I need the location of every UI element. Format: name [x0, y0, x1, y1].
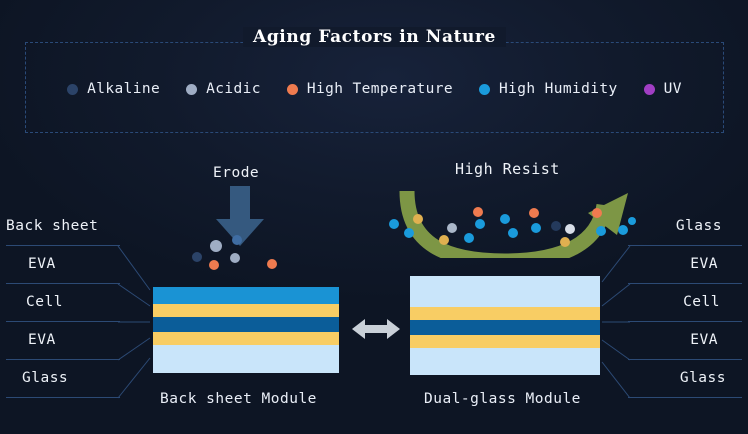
back-sheet-module-caption: Back sheet Module: [160, 391, 317, 407]
layer-eva-bottom: [410, 335, 600, 348]
aging-factor-particle: [475, 219, 485, 229]
layer-back-sheet: [153, 287, 339, 304]
legend-item-label: Alkaline: [87, 81, 160, 97]
aging-factor-particle: [618, 225, 628, 235]
label-text: EVA: [628, 250, 746, 278]
dot-icon: [186, 84, 197, 95]
dual-glass-module-stack: [410, 276, 600, 375]
legend-item-label: High Temperature: [307, 81, 453, 97]
layer-glass: [153, 345, 339, 373]
legend-title-text: Aging Factors in Nature: [243, 27, 506, 47]
label-rule: [628, 283, 742, 284]
aging-factor-particle: [267, 259, 277, 269]
high-resist-label: High Resist: [455, 160, 560, 178]
label-rule: [628, 245, 742, 246]
aging-factor-particle: [209, 260, 219, 270]
high-resist-arrow-icon: [385, 183, 645, 258]
aging-factor-particle: [560, 237, 570, 247]
aging-factor-particle: [232, 235, 242, 245]
diagram-canvas: Aging Factors in Nature Alkaline Acidic …: [0, 0, 748, 434]
label-text: EVA: [628, 326, 746, 354]
label-row-eva-top: EVA: [628, 250, 746, 288]
aging-factor-particle: [404, 228, 414, 238]
aging-factor-particle: [210, 240, 222, 252]
label-text: Glass: [628, 364, 746, 392]
aging-factor-particle: [389, 219, 399, 229]
legend-item-label: UV: [664, 81, 682, 97]
label-rule: [628, 359, 742, 360]
aging-factor-particle: [413, 214, 423, 224]
aging-factor-particle: [192, 252, 202, 262]
label-row-cell: Cell: [2, 288, 120, 326]
layer-glass-bottom: [410, 348, 600, 375]
label-text: Back sheet: [2, 212, 120, 240]
dot-icon: [644, 84, 655, 95]
label-row-cell: Cell: [628, 288, 746, 326]
label-row-eva-bottom: EVA: [628, 326, 746, 364]
label-rule: [628, 321, 742, 322]
legend-title: Aging Factors in Nature: [26, 27, 723, 47]
aging-factor-particle: [500, 214, 510, 224]
aging-factor-particle: [464, 233, 474, 243]
back-sheet-module-stack: [153, 287, 339, 373]
dot-icon: [67, 84, 78, 95]
label-text: EVA: [2, 326, 120, 354]
aging-factor-particle: [447, 223, 457, 233]
label-text: Cell: [628, 288, 746, 316]
legend-item-uv[interactable]: UV: [644, 81, 682, 97]
label-row-glass-bottom: Glass: [628, 364, 746, 402]
label-row-eva-bottom: EVA: [2, 326, 120, 364]
legend-panel: Aging Factors in Nature Alkaline Acidic …: [25, 42, 724, 133]
layer-cell: [153, 317, 339, 332]
label-text: Glass: [628, 212, 746, 240]
aging-factor-particle: [473, 207, 483, 217]
aging-factor-particle: [439, 235, 449, 245]
label-text: Cell: [2, 288, 120, 316]
aging-factor-particle: [592, 208, 602, 218]
right-label-column: Glass EVA Cell EVA Glass: [628, 212, 746, 402]
label-rule: [6, 397, 120, 398]
aging-factor-particle: [508, 228, 518, 238]
compare-arrow-icon: [352, 318, 400, 340]
aging-factor-particle: [551, 221, 561, 231]
legend-item-high-humidity[interactable]: High Humidity: [479, 81, 618, 97]
dot-icon: [479, 84, 490, 95]
label-row-back-sheet: Back sheet: [2, 212, 120, 250]
label-text: EVA: [2, 250, 120, 278]
legend-items: Alkaline Acidic High Temperature High Hu…: [26, 81, 723, 97]
aging-factor-particle: [565, 224, 575, 234]
label-rule: [6, 245, 120, 246]
aging-factor-particle: [529, 208, 539, 218]
label-text: Glass: [2, 364, 120, 392]
legend-item-high-temperature[interactable]: High Temperature: [287, 81, 453, 97]
legend-item-label: High Humidity: [499, 81, 618, 97]
layer-glass-top: [410, 276, 600, 307]
label-row-glass: Glass: [2, 364, 120, 402]
dual-glass-module-caption: Dual-glass Module: [424, 391, 581, 407]
aging-factor-particle: [628, 217, 636, 225]
aging-factor-particle: [596, 226, 606, 236]
label-row-glass-top: Glass: [628, 212, 746, 250]
layer-eva-top: [410, 307, 600, 320]
layer-eva-bottom: [153, 332, 339, 345]
label-rule: [6, 359, 120, 360]
aging-factor-particle: [531, 223, 541, 233]
label-rule: [628, 397, 742, 398]
erode-label: Erode: [213, 165, 259, 181]
label-row-eva-top: EVA: [2, 250, 120, 288]
dot-icon: [287, 84, 298, 95]
label-rule: [6, 321, 120, 322]
legend-item-label: Acidic: [206, 81, 261, 97]
layer-cell: [410, 320, 600, 335]
left-label-column: Back sheet EVA Cell EVA Glass: [2, 212, 120, 402]
aging-factor-particle: [230, 253, 240, 263]
legend-item-acidic[interactable]: Acidic: [186, 81, 261, 97]
layer-eva-top: [153, 304, 339, 317]
label-rule: [6, 283, 120, 284]
legend-item-alkaline[interactable]: Alkaline: [67, 81, 160, 97]
